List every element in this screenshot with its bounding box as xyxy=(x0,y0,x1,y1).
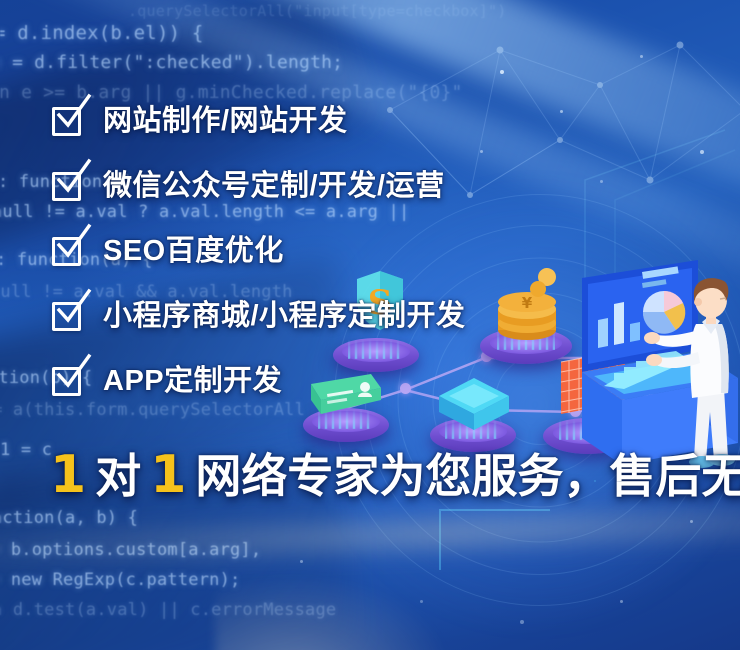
checkbox-checked-icon[interactable] xyxy=(52,302,81,331)
code-line: e = d.filter(":checked").length; xyxy=(0,52,343,73)
code-line: = new RegExp(c.pattern); xyxy=(0,570,240,590)
service-checklist: 网站制作/网站开发 微信公众号定制/开发/运营 SEO百度优化 xyxy=(52,100,692,425)
tagline: 1 对 1 网络专家为您服务，售后无忧！ xyxy=(50,449,740,501)
particle xyxy=(500,70,504,74)
tagline-number-second: 1 xyxy=(150,449,186,501)
code-line: nction(a, b) { xyxy=(0,508,138,528)
tagline-separator: 对 xyxy=(86,453,150,499)
checkbox-checked-icon[interactable] xyxy=(52,237,81,266)
checklist-item-wechat[interactable]: 微信公众号定制/开发/运营 xyxy=(52,165,692,207)
checklist-item-label: 小程序商城/小程序定制开发 xyxy=(103,302,466,331)
particle xyxy=(300,560,303,563)
checkbox-checked-icon[interactable] xyxy=(52,367,81,396)
tagline-rest: 网络专家为您服务，售后无忧！ xyxy=(186,453,740,499)
checklist-item-seo[interactable]: SEO百度优化 xyxy=(52,230,692,272)
lens-flare xyxy=(215,560,475,650)
promo-banner: .querySelectorAll("input[type=checkbox]"… xyxy=(0,0,740,650)
checklist-item-miniprogram[interactable]: 小程序商城/小程序定制开发 xyxy=(52,295,692,337)
particle xyxy=(640,55,643,58)
particle xyxy=(520,620,524,624)
checkbox-checked-icon[interactable] xyxy=(52,107,81,136)
code-line: .querySelectorAll("input[type=checkbox]"… xyxy=(128,2,506,20)
checklist-item-app[interactable]: APP定制开发 xyxy=(52,360,692,402)
checklist-item-label: APP定制开发 xyxy=(103,367,282,396)
code-line: = b.options.custom[a.arg], xyxy=(0,540,261,560)
light-streak-warm xyxy=(0,501,740,565)
code-line: n d.test(a.val) || c.errorMessage xyxy=(0,600,336,620)
checklist-item-label: 微信公众号定制/开发/运营 xyxy=(103,172,445,201)
particle xyxy=(700,150,704,154)
code-line: = d.index(b.el)) { xyxy=(0,22,204,44)
checkbox-checked-icon[interactable] xyxy=(52,172,81,201)
tagline-number-first: 1 xyxy=(50,449,86,501)
particle xyxy=(420,600,423,603)
code-line: 1 = c xyxy=(0,440,52,460)
hud-wireframe xyxy=(430,480,650,640)
particle xyxy=(690,520,693,523)
checklist-item-label: SEO百度优化 xyxy=(103,237,284,266)
checklist-item-website[interactable]: 网站制作/网站开发 xyxy=(52,100,692,142)
particle xyxy=(620,600,623,603)
checklist-item-label: 网站制作/网站开发 xyxy=(103,107,348,136)
